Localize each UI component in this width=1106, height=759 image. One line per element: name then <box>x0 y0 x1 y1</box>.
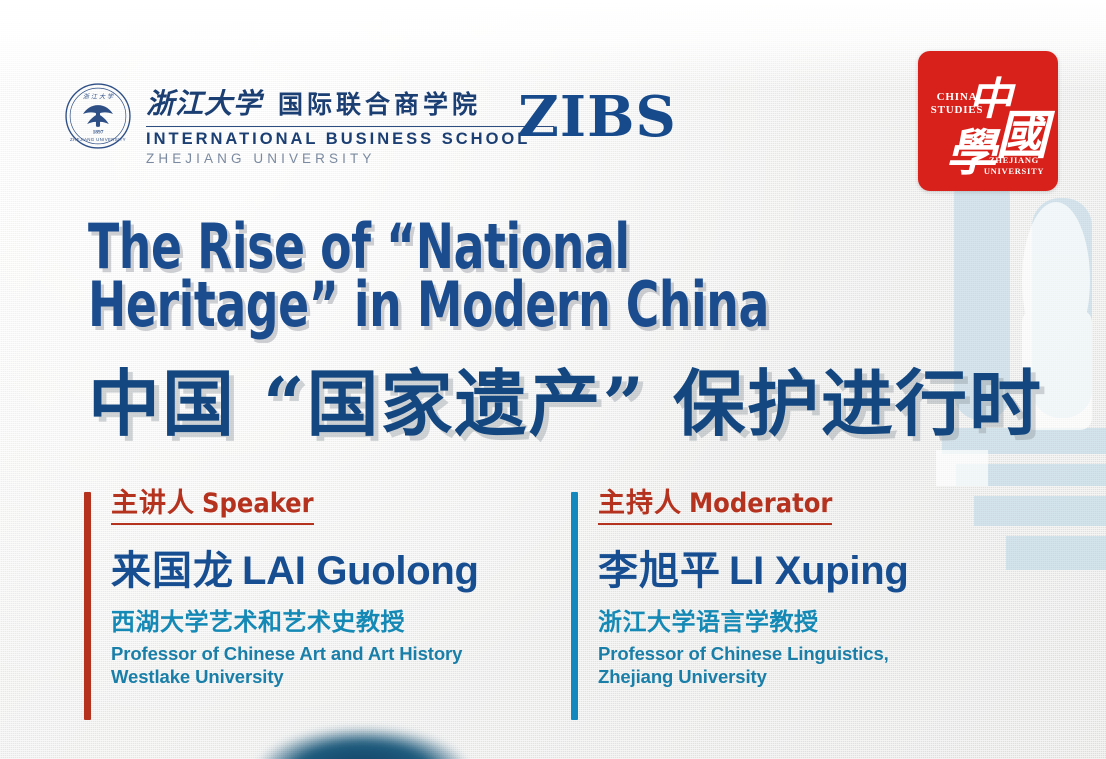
zju-seal-icon: 浙 江 大 学 1897 ZHEJIANG UNIVERSITY <box>64 82 132 150</box>
speaker-block: 主讲人Speaker 来国龙LAI Guolong 西湖大学艺术和艺术史教授 P… <box>84 486 479 688</box>
speaker-affiliation-english-line1: Professor of Chinese Art and Art History <box>111 642 479 665</box>
speaker-role-english: Speaker <box>202 488 314 519</box>
zju-ibs-logo: 浙 江 大 学 1897 ZHEJIANG UNIVERSITY 浙江大学 国际… <box>64 80 554 166</box>
people-section: 主讲人Speaker 来国龙LAI Guolong 西湖大学艺术和艺术史教授 P… <box>0 486 1106 736</box>
zju-chinese-name-row: 浙江大学 国际联合商学院 <box>146 82 554 122</box>
svg-text:ZHEJIANG UNIVERSITY: ZHEJIANG UNIVERSITY <box>70 137 126 142</box>
moderator-name: 李旭平LI Xuping <box>598 547 909 595</box>
moderator-affiliation-english-line1: Professor of Chinese Linguistics, <box>598 642 909 665</box>
moderator-affiliation-english-line2: Zhejiang University <box>598 665 909 688</box>
zju-chinese-name: 浙江大学 <box>146 82 262 122</box>
speaker-affiliation-chinese: 西湖大学艺术和艺术史教授 <box>111 608 479 636</box>
zju-logo-text: 浙江大学 国际联合商学院 INTERNATIONAL BUSINESS SCHO… <box>146 80 554 166</box>
speaker-name-english: LAI Guolong <box>242 549 479 593</box>
speaker-name-chinese: 来国龙 <box>111 548 234 594</box>
event-title-chinese: 中国 “国家遗产” 保护进行时 <box>88 362 1048 446</box>
zju-logo-divider <box>146 126 554 127</box>
china-studies-logo-en-bottom: ZHEJIANG UNIVERSITY <box>976 155 1052 177</box>
moderator-role-label: 主持人Moderator <box>598 486 832 525</box>
china-studies-logo-line3: ZHEJIANG <box>989 155 1039 165</box>
speaker-accent-bar <box>84 492 91 720</box>
speaker-affiliation-english-line2: Westlake University <box>111 665 479 688</box>
speaker-role-label: 主讲人Speaker <box>111 486 314 525</box>
poster-header: 浙 江 大 学 1897 ZHEJIANG UNIVERSITY 浙江大学 国际… <box>0 0 1106 190</box>
speaker-role-chinese: 主讲人 <box>111 488 195 519</box>
moderator-role-chinese: 主持人 <box>598 488 682 519</box>
moderator-block: 主持人Moderator 李旭平LI Xuping 浙江大学语言学教授 Prof… <box>571 486 909 688</box>
speaker-name: 来国龙LAI Guolong <box>111 547 479 595</box>
moderator-affiliation-chinese: 浙江大学语言学教授 <box>598 608 909 636</box>
moderator-name-english: LI Xuping <box>729 549 909 593</box>
moderator-accent-bar <box>571 492 578 720</box>
china-studies-logo: CHINA STUDIES 中 國 學 ZHEJIANG UNIVERSITY <box>918 51 1058 191</box>
zibs-wordmark: ZIBS <box>518 84 677 150</box>
svg-text:1897: 1897 <box>93 130 104 136</box>
moderator-role-english: Moderator <box>689 488 832 519</box>
zju-school-chinese-name: 国际联合商学院 <box>278 85 481 121</box>
event-title-english: The Rise of “National Heritage” in Moder… <box>88 218 851 334</box>
event-poster: 浙 江 大 学 1897 ZHEJIANG UNIVERSITY 浙江大学 国际… <box>0 0 1106 759</box>
china-studies-logo-line4: UNIVERSITY <box>984 166 1044 176</box>
moderator-name-chinese: 李旭平 <box>598 548 721 594</box>
zju-university-english-name: ZHEJIANG UNIVERSITY <box>146 151 554 166</box>
zju-school-english-name: INTERNATIONAL BUSINESS SCHOOL <box>146 130 554 149</box>
svg-text:浙 江 大 学: 浙 江 大 学 <box>83 92 114 100</box>
